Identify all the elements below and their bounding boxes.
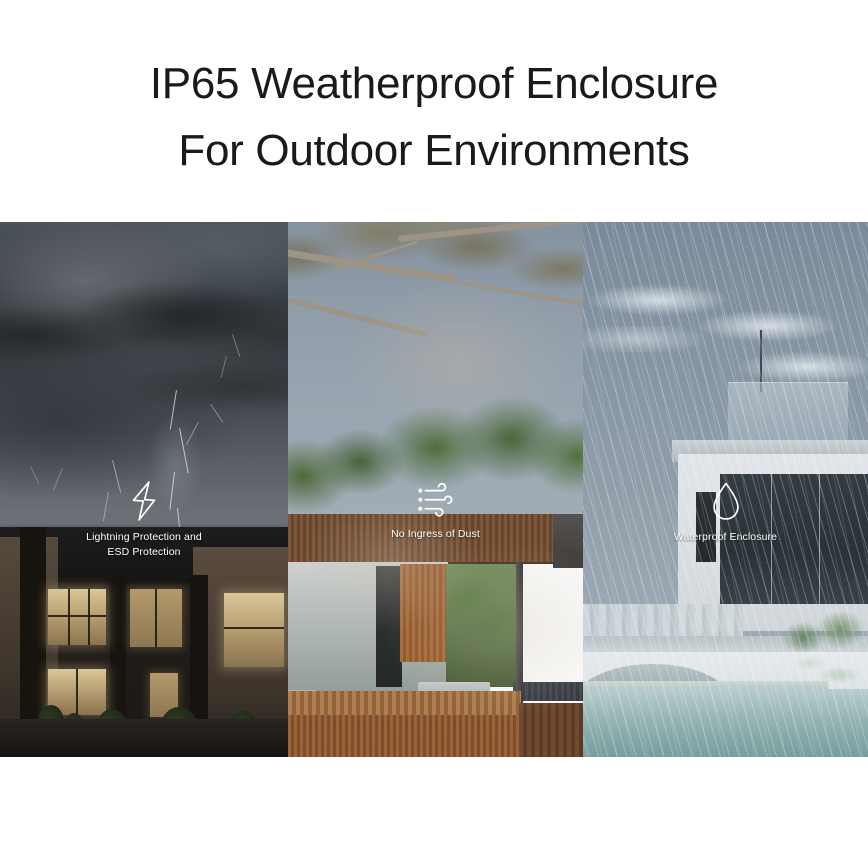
lightning-bolt-icon (127, 480, 161, 522)
feature-panel-lightning-protection[interactable]: Lightning Protection and ESD Protection (0, 222, 288, 757)
water-drop-icon (709, 480, 743, 522)
dust-wind-icon (416, 480, 456, 520)
product-feature-banner: IP65 Weatherproof Enclosure For Outdoor … (0, 0, 868, 868)
lightning-caption: Lightning Protection and ESD Protection (86, 530, 202, 560)
dust-caption: No Ingress of Dust (391, 527, 480, 542)
page-title-line-1: IP65 Weatherproof Enclosure (0, 50, 868, 117)
page-title: IP65 Weatherproof Enclosure For Outdoor … (0, 50, 868, 184)
feature-panel-dust-ingress[interactable]: No Ingress of Dust (288, 222, 583, 757)
page-title-line-2: For Outdoor Environments (0, 117, 868, 184)
waterproof-caption: Waterproof Enclosure (674, 530, 777, 545)
feature-panel-waterproof-enclosure[interactable]: Waterproof Enclosure (583, 222, 868, 757)
feature-panel-strip: Lightning Protection and ESD Protection (0, 222, 868, 757)
